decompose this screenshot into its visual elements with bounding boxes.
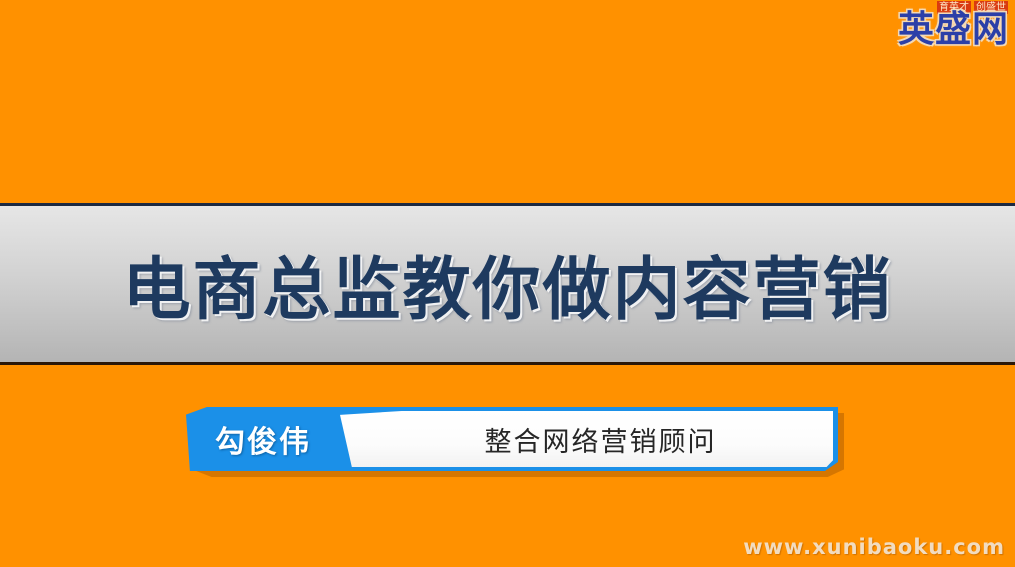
speaker-name: 勾俊伟 [186, 407, 340, 471]
speaker-role: 整合网络营销顾问 [371, 407, 830, 471]
speaker-banner: 勾俊伟 整合网络营销顾问 [186, 407, 838, 471]
title-band-inner: 电商总监教你做内容营销 [0, 206, 1015, 362]
logo-brand-name: 英盛网 [889, 12, 1009, 48]
page-title: 电商总监教你做内容营销 [122, 234, 892, 333]
site-watermark: www.xunibaoku.com [743, 535, 1005, 559]
presentation-slide: 育英才 创盛世 英盛网 电商总监教你做内容营销 勾俊伟 整合网络营销顾问 www… [0, 0, 1015, 567]
brand-logo: 育英才 创盛世 英盛网 [889, 0, 1011, 52]
title-band: 电商总监教你做内容营销 [0, 203, 1015, 365]
